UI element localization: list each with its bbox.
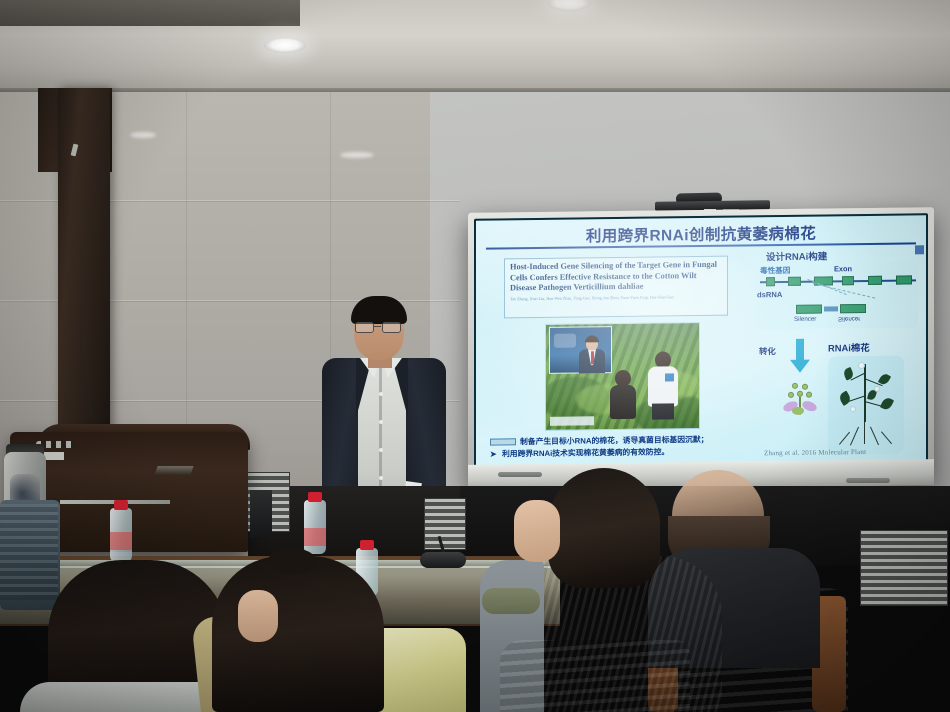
bottle-cap-icon <box>114 500 128 510</box>
cotton-boll <box>858 362 865 369</box>
attendee-front-center-hair-bun <box>268 548 316 574</box>
display-speaker-grille <box>498 472 542 477</box>
bullet-tag-icon <box>490 439 516 446</box>
shirt-button <box>379 420 383 424</box>
conference-chair[interactable] <box>500 640 690 712</box>
construct-heading: 设计RNAi构建 <box>766 248 827 263</box>
presenter-hair <box>351 296 407 324</box>
flower-bud <box>806 392 812 398</box>
label-rnai-cotton: RNAi棉花 <box>828 340 870 355</box>
flower-calyx <box>792 407 804 415</box>
wall-column <box>58 88 110 464</box>
monitor-riser <box>250 490 272 538</box>
cotton-boll <box>874 386 880 392</box>
eyeglasses-icon <box>355 322 374 333</box>
transformation-arrow-icon <box>796 339 804 361</box>
lectern-shelf <box>154 466 193 475</box>
cotton-flower-illustration <box>782 383 818 417</box>
attendee-gray-sweater-head <box>548 468 660 588</box>
slide-corner-marker-icon <box>915 245 924 254</box>
paper-title: Host-Induced Gene Silencing of the Targe… <box>510 260 722 294</box>
gene-segment <box>842 276 854 285</box>
news-ticker-bar <box>550 416 594 426</box>
plant-leaf <box>838 391 853 406</box>
bottle-label <box>110 532 132 550</box>
label-silencer-left: Silencer <box>794 316 816 323</box>
shirt-button <box>379 476 383 480</box>
construct-linker <box>824 306 838 311</box>
person-legs <box>652 403 674 419</box>
person-body <box>610 385 636 419</box>
bottle-cap-icon <box>308 492 322 502</box>
field-person-standing <box>646 351 680 417</box>
construct-silencer-left <box>796 305 822 314</box>
attendee-front-center-hair <box>212 556 384 712</box>
attendee-front-center-hand <box>238 590 278 642</box>
wall-light-reflection <box>340 152 374 158</box>
label-dsrna: dsRNA <box>757 290 782 299</box>
plant-leaf <box>880 396 894 411</box>
label-silencer-right: Silencer <box>838 315 860 322</box>
construct-silencer-right <box>840 304 866 313</box>
field-person-kneeling <box>608 370 638 420</box>
eyeglasses-bridge-icon <box>373 326 381 327</box>
flower-bud <box>792 383 798 389</box>
news-anchor-tie <box>591 351 594 364</box>
gene-segment <box>788 277 801 286</box>
slide-bullets: 制备产生目标小RNA的棉花，诱导真菌目标基因沉默； ➤利用跨界RNAi技术实现棉… <box>490 431 920 460</box>
conference-microphone[interactable] <box>420 552 466 568</box>
gene-segment <box>766 277 775 286</box>
bottle-label <box>304 528 326 546</box>
person-badge-icon <box>665 373 674 381</box>
radiator-vent <box>424 498 466 550</box>
shirt-button <box>379 392 383 396</box>
news-broadcast-inset <box>549 326 612 374</box>
bullet-text-1: 制备产生目标小RNA的棉花，诱导真菌目标基因沉默； <box>520 435 708 446</box>
slide-canvas: 利用跨界RNAi创制抗黄萎病棉花 Host-Induced Gene Silen… <box>476 215 926 468</box>
shirt-button <box>379 448 383 452</box>
news-anchor-hair <box>585 335 599 342</box>
cotton-boll <box>850 406 856 412</box>
attendee-gray-sweater-hand <box>514 500 560 562</box>
ceiling-downlight-icon <box>264 38 306 53</box>
paper-authors: Tao Zhang, Xiao Liu, Han-Wen Zhan, Yang … <box>510 294 722 302</box>
gene-segment <box>896 275 912 284</box>
wall-light-reflection <box>130 132 156 138</box>
attendee-gray-sweater-cuff <box>482 588 540 614</box>
field-photo <box>545 322 700 431</box>
bottle-cap-icon <box>360 540 374 550</box>
news-logo-icon <box>554 334 576 348</box>
label-virulence-gene: 毒性基因 <box>760 265 790 276</box>
paper-title-box: Host-Induced Gene Silencing of the Targe… <box>504 256 728 319</box>
presentation-photo-scene: 利用跨界RNAi创制抗黄萎病棉花 Host-Induced Gene Silen… <box>0 0 950 712</box>
gene-segment <box>868 276 882 285</box>
flower-bud <box>788 392 794 398</box>
eyeglasses-icon <box>382 322 401 333</box>
bullet-text-2: 利用跨界RNAi技术实现棉花黄萎病的有效防控。 <box>502 447 669 458</box>
label-transformation: 转化 <box>759 345 776 357</box>
transformation-arrow-head-icon <box>790 360 810 373</box>
label-exon: Exon <box>834 264 852 273</box>
display-speaker-grille <box>846 478 890 483</box>
ceiling-soffit <box>0 0 300 26</box>
flower-bud <box>802 384 808 390</box>
wall-panel-seam <box>186 92 187 472</box>
bullet-arrow-icon: ➤ <box>490 448 502 460</box>
chair-back-ribs <box>0 504 58 600</box>
radiator-vent <box>860 530 948 606</box>
